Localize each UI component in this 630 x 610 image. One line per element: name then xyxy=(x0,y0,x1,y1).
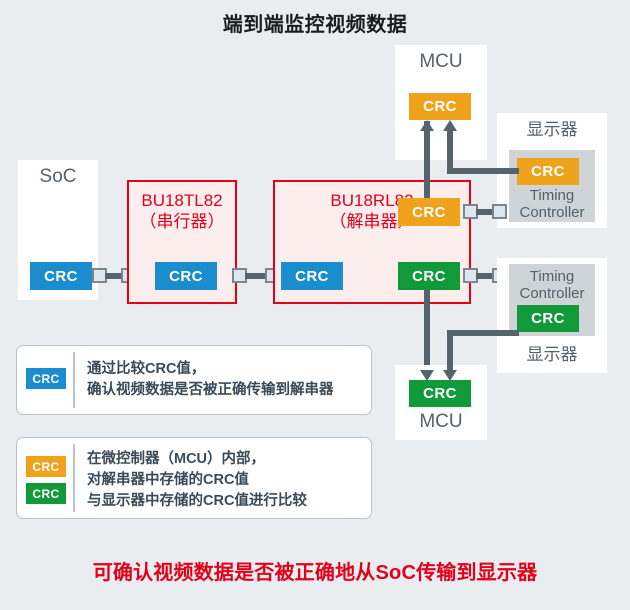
legend-2-chips: CRC CRC xyxy=(17,438,73,518)
deserializer-crc-orange-chip: CRC xyxy=(398,198,460,226)
soc-crc-chip: CRC xyxy=(30,262,92,290)
display-top-label: 显示器 xyxy=(497,120,607,140)
deserializer-crc-green-chip: CRC xyxy=(398,262,460,290)
page-title: 端到端监控视频数据 xyxy=(0,8,630,37)
legend-divider xyxy=(73,444,75,512)
display-top-crc-chip: CRC xyxy=(517,158,579,185)
serializer-crc-chip: CRC xyxy=(155,262,217,290)
wire-display-bottom-vertical xyxy=(447,330,453,372)
serializer-name: BU18TL82 xyxy=(127,190,237,211)
serializer-subtitle: （串行器） xyxy=(127,211,237,232)
legend-item-1: CRC 通过比较CRC值， 确认视频数据是否被正确传输到解串器 xyxy=(16,345,372,415)
deserializer-crc-in-chip: CRC xyxy=(281,262,343,290)
footer-conclusion: 可确认视频数据是否被正确地从SoC传输到显示器 xyxy=(0,556,630,585)
display-bottom-label: 显示器 xyxy=(497,345,607,365)
legend-1-chips: CRC xyxy=(17,346,73,414)
connector-pad-right xyxy=(492,204,507,219)
display-top-timing-controller-label: Timing Controller xyxy=(509,187,595,221)
legend-divider xyxy=(73,352,75,408)
arrow-to-mcu-top-from-display xyxy=(443,120,457,131)
legend-2-crc-green: CRC xyxy=(26,483,66,504)
legend-1-text: 通过比较CRC值， 确认视频数据是否被正确传输到解串器 xyxy=(87,359,365,401)
mcu-bottom-label: MCU xyxy=(395,412,487,432)
display-bottom-timing-controller-label: Timing Controller xyxy=(509,268,595,302)
soc-label: SoC xyxy=(18,167,98,187)
mcu-bottom-crc-chip: CRC xyxy=(409,380,471,407)
display-bottom-crc-chip: CRC xyxy=(517,305,579,332)
wire-display-bottom-horizontal xyxy=(447,330,519,336)
legend-item-2: CRC CRC 在微控制器（MCU）内部， 对解串器中存储的CRC值 与显示器中… xyxy=(16,437,372,519)
arrow-to-mcu-bottom-from-deserializer xyxy=(420,370,434,381)
connector-deserializer-display-top xyxy=(463,204,507,220)
legend-1-crc-blue: CRC xyxy=(26,368,66,389)
wire-display-top-vertical xyxy=(447,130,453,174)
arrow-to-mcu-bottom-from-display xyxy=(443,370,457,381)
diagram-canvas: 端到端监控视频数据 MCU CRC 显示器 CRC Timing Control… xyxy=(0,0,630,610)
wire-display-top-horizontal xyxy=(447,168,519,174)
legend-2-text: 在微控制器（MCU）内部， 对解串器中存储的CRC值 与显示器中存储的CRC值进… xyxy=(87,449,365,512)
mcu-top-crc-chip: CRC xyxy=(409,93,471,120)
mcu-top-label: MCU xyxy=(395,52,487,72)
legend-2-crc-orange: CRC xyxy=(26,456,66,477)
arrow-to-mcu-top-from-deserializer xyxy=(420,120,434,131)
connector-bar xyxy=(245,273,267,279)
